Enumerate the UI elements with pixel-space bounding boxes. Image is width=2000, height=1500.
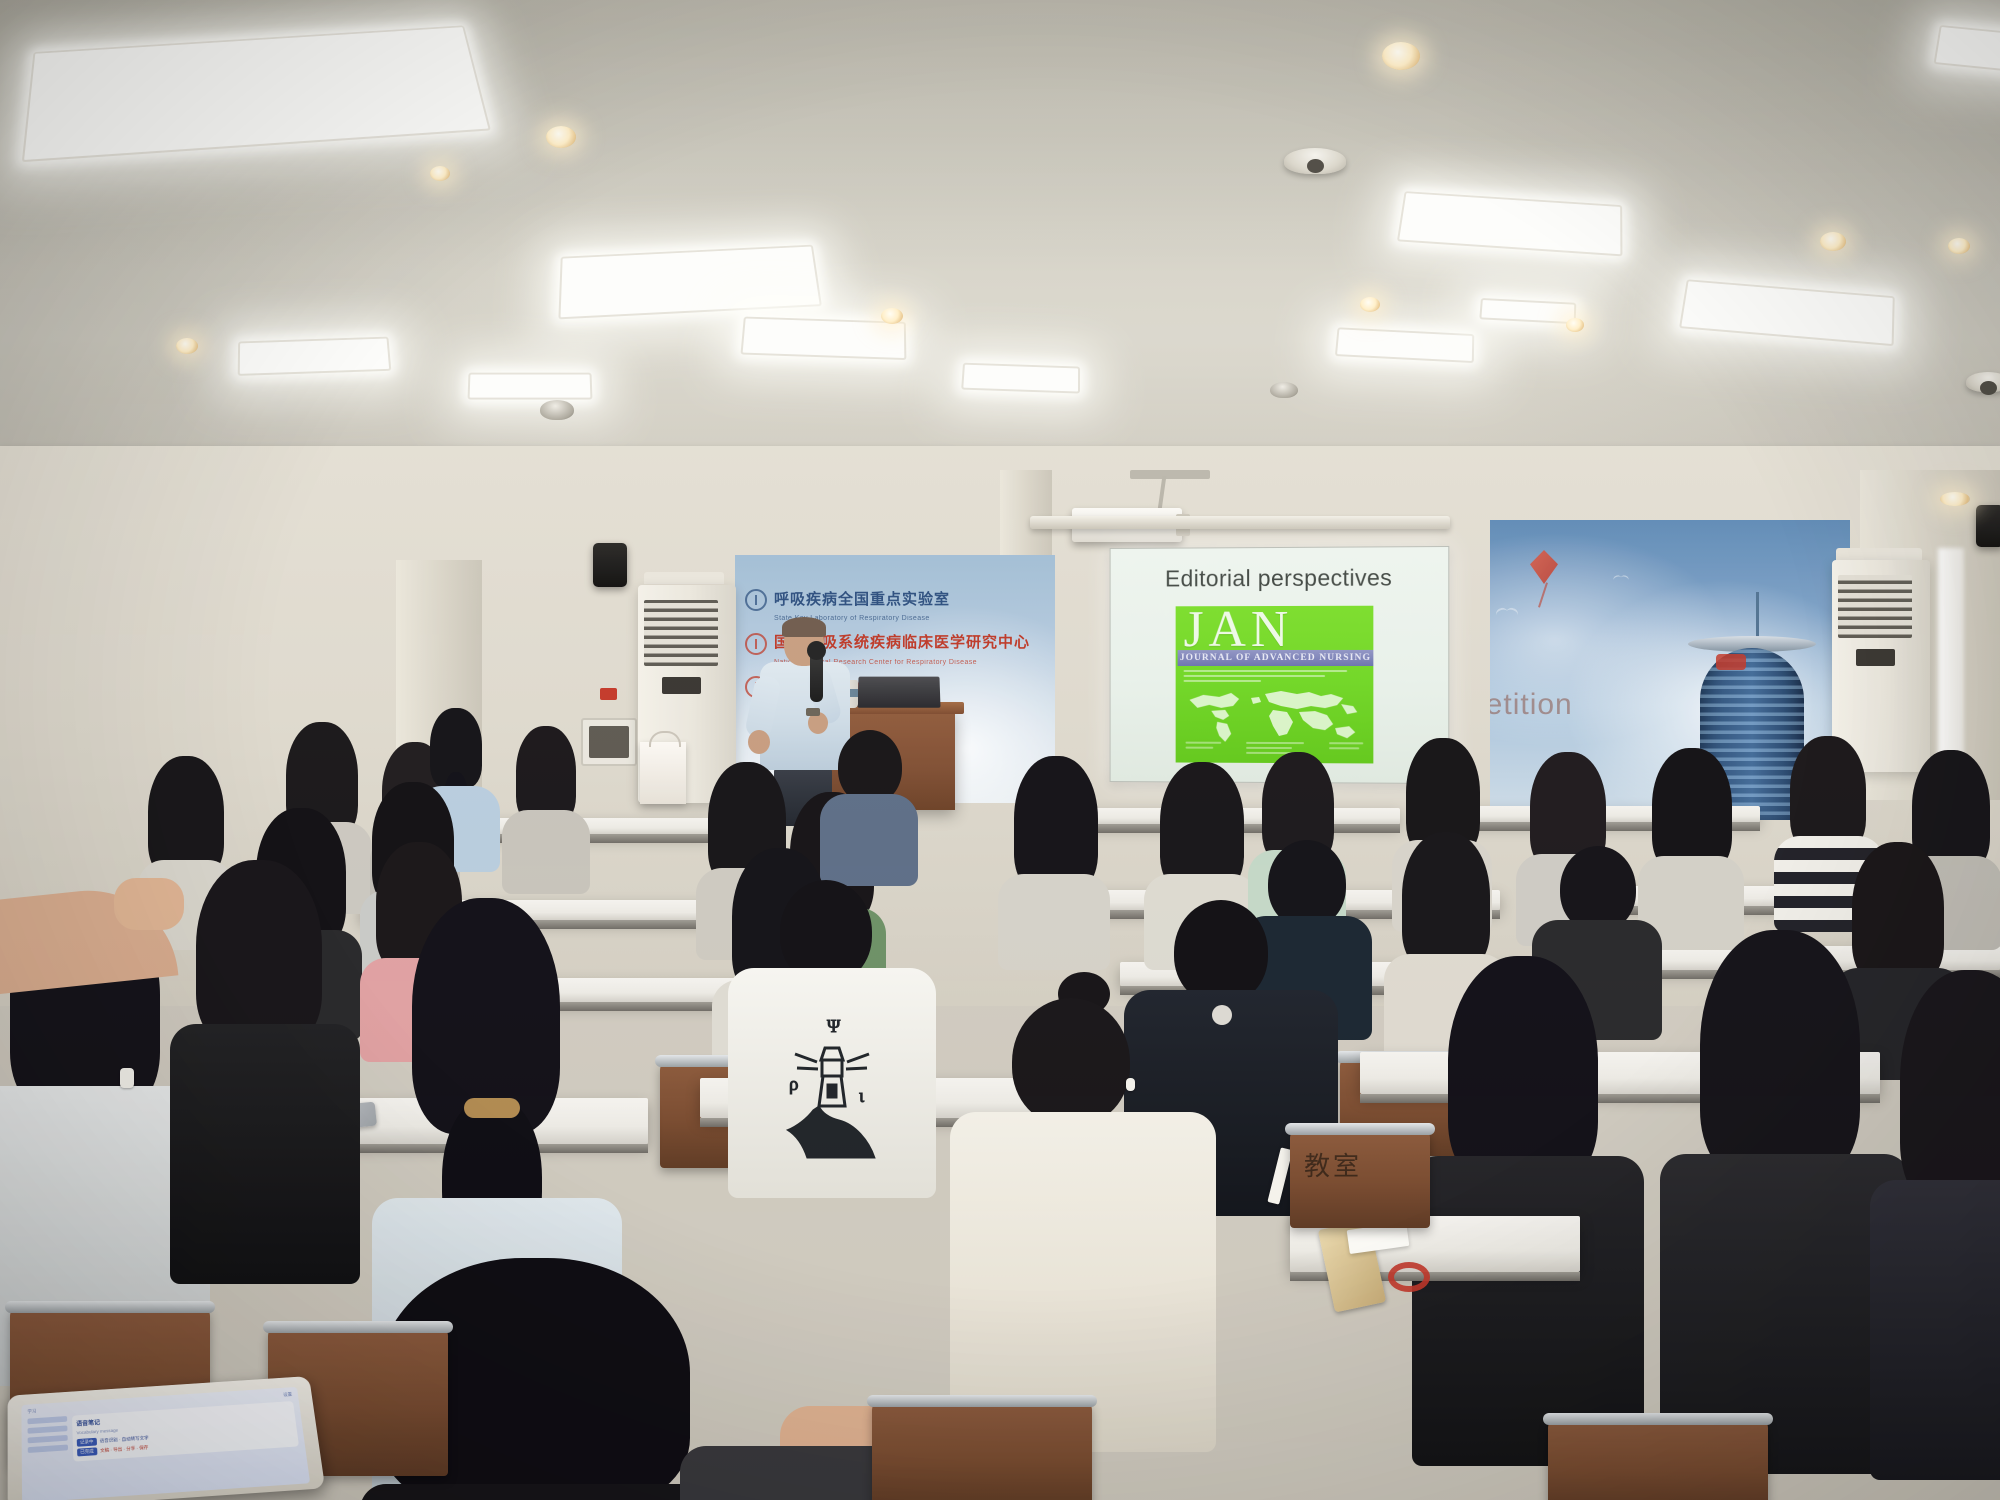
fire-alarm-icon xyxy=(600,688,617,700)
earbud-icon xyxy=(120,1068,134,1088)
tablet-sidebar[interactable] xyxy=(27,1416,68,1465)
hair xyxy=(1448,956,1598,1186)
ac-top-right xyxy=(1836,548,1922,560)
ceiling-light-panel xyxy=(468,373,593,400)
hair xyxy=(1700,930,1860,1180)
hair xyxy=(196,860,322,1046)
projection-screen: Editorial perspectives JAN JOURNAL OF AD… xyxy=(1110,546,1450,784)
ceiling-downlight xyxy=(1820,232,1846,251)
torso xyxy=(360,1484,716,1500)
presenter-left-hand xyxy=(748,730,770,754)
air-conditioner-right xyxy=(1832,560,1930,772)
ceiling-downlight xyxy=(1948,238,1970,254)
ceiling-downlight xyxy=(1566,318,1584,332)
beaded-bracelet xyxy=(1388,1262,1430,1292)
hair xyxy=(1790,736,1866,852)
microphone-icon xyxy=(810,650,823,702)
bird-icon xyxy=(1496,608,1518,617)
lecture-hall-photo: 呼吸疾病全国重点实验室 State Key Laboratory of Resp… xyxy=(0,0,2000,1500)
podium-laptop xyxy=(857,677,940,708)
journal-cover-image: JAN JOURNAL OF ADVANCED NURSING xyxy=(1176,606,1374,764)
kite-icon xyxy=(1530,550,1558,584)
torso xyxy=(502,810,590,894)
world-map-icon xyxy=(1182,684,1370,746)
ac-display-icon xyxy=(1856,649,1895,666)
tower-logo-icon xyxy=(1716,654,1746,670)
hair xyxy=(1852,842,1944,984)
tablet-row-text: 语音识别 · 自动转写文字 xyxy=(100,1435,149,1443)
wall-control-panel xyxy=(581,718,637,766)
ac-grille-icon xyxy=(1838,575,1912,639)
dome-camera xyxy=(1270,382,1298,398)
ac-display-icon xyxy=(662,677,701,694)
tablet-device[interactable]: 学习 设置 语音笔记 Vocabulary message 记录中 语音识别 ·… xyxy=(8,1376,326,1500)
ceiling-downlight xyxy=(1382,42,1420,70)
tablet-row-text: 文稿 · 导出 · 分享 · 保存 xyxy=(100,1445,148,1453)
wall-speaker-left xyxy=(593,543,627,587)
journal-subtitle-bar: JOURNAL OF ADVANCED NURSING xyxy=(1178,650,1374,666)
torso xyxy=(170,1024,360,1284)
journal-footer-right xyxy=(1329,742,1363,757)
tablet-screen[interactable]: 学习 设置 语音笔记 Vocabulary message 记录中 语音识别 ·… xyxy=(21,1387,310,1500)
torso xyxy=(1870,1180,2000,1480)
tablet-main-panel: 语音笔记 Vocabulary message 记录中 语音识别 · 自动转写文… xyxy=(72,1401,299,1462)
journal-subtitle-text: JOURNAL OF ADVANCED NURSING xyxy=(1180,653,1371,663)
lab-logo-icon xyxy=(745,589,767,611)
torso xyxy=(820,794,918,886)
banner-line-1-cn: 呼吸疾病全国重点实验室 xyxy=(774,592,950,609)
presenter-hair xyxy=(782,617,826,637)
chair-with-label: 教室 xyxy=(1290,1128,1430,1228)
earbud-icon xyxy=(1126,1078,1135,1091)
svg-text:ρ: ρ xyxy=(789,1074,798,1095)
hair xyxy=(1014,756,1098,892)
dome-camera xyxy=(540,400,574,420)
kite-tail-icon xyxy=(1538,582,1548,607)
smoke-detector xyxy=(1966,372,2000,392)
torso xyxy=(998,874,1110,970)
chair xyxy=(872,1400,1092,1500)
tablet-header-left[interactable]: 学习 xyxy=(27,1409,36,1415)
hair xyxy=(1652,748,1732,872)
ceiling-downlight xyxy=(430,166,450,181)
projection-screen-roller xyxy=(1030,516,1450,529)
ceiling-downlight xyxy=(176,338,198,354)
ceiling-downlight xyxy=(546,126,576,148)
ceiling-light-panel xyxy=(740,317,906,360)
ceiling-light-panel xyxy=(238,337,392,376)
slide-title: Editorial perspectives xyxy=(1111,564,1449,592)
projector-mount-plate xyxy=(1130,470,1210,479)
tablet-row-tag[interactable]: 已完成 xyxy=(77,1447,97,1456)
ceiling-light-panel xyxy=(961,363,1080,394)
ac-grille-icon xyxy=(644,600,718,665)
hair xyxy=(1402,832,1490,970)
head xyxy=(838,730,902,804)
head xyxy=(1174,900,1268,1004)
chair-label: 教室 xyxy=(1304,1146,1362,1183)
hand xyxy=(114,878,184,930)
banner-word: petition xyxy=(1490,688,1573,722)
smoke-detector xyxy=(1284,148,1346,174)
head xyxy=(1012,998,1130,1126)
svg-text:Ψ: Ψ xyxy=(827,1016,841,1036)
svg-text:ι: ι xyxy=(859,1086,865,1107)
tablet-row-tag[interactable]: 记录中 xyxy=(77,1438,97,1447)
hair-tie xyxy=(464,1098,520,1118)
torso-white-tshirt: Ψ ρ ι xyxy=(728,968,936,1198)
journal-cover-textlines xyxy=(1184,670,1362,685)
hoodie-logo-icon xyxy=(1212,1005,1232,1025)
wristwatch xyxy=(806,708,820,716)
journal-cover-footer xyxy=(1186,742,1364,758)
chair xyxy=(1548,1418,1768,1500)
head xyxy=(1268,840,1346,928)
ceiling-downlight xyxy=(881,308,903,324)
bird-icon xyxy=(1613,575,1628,581)
wall-speaker-right xyxy=(1976,505,2000,547)
ceiling-downlight xyxy=(1360,297,1380,312)
shopping-bag xyxy=(640,742,686,804)
ceiling-downlight xyxy=(1940,492,1970,506)
hair xyxy=(1160,762,1244,892)
journal-logo-text: JAN xyxy=(1184,606,1374,656)
tablet-header-right[interactable]: 设置 xyxy=(283,1392,292,1398)
banner-line-1: 呼吸疾病全国重点实验室 xyxy=(745,589,1055,611)
ac-top-left xyxy=(644,572,724,584)
journal-footer-left xyxy=(1186,742,1222,757)
lighthouse-graphic-icon: Ψ ρ ι xyxy=(773,1014,891,1164)
